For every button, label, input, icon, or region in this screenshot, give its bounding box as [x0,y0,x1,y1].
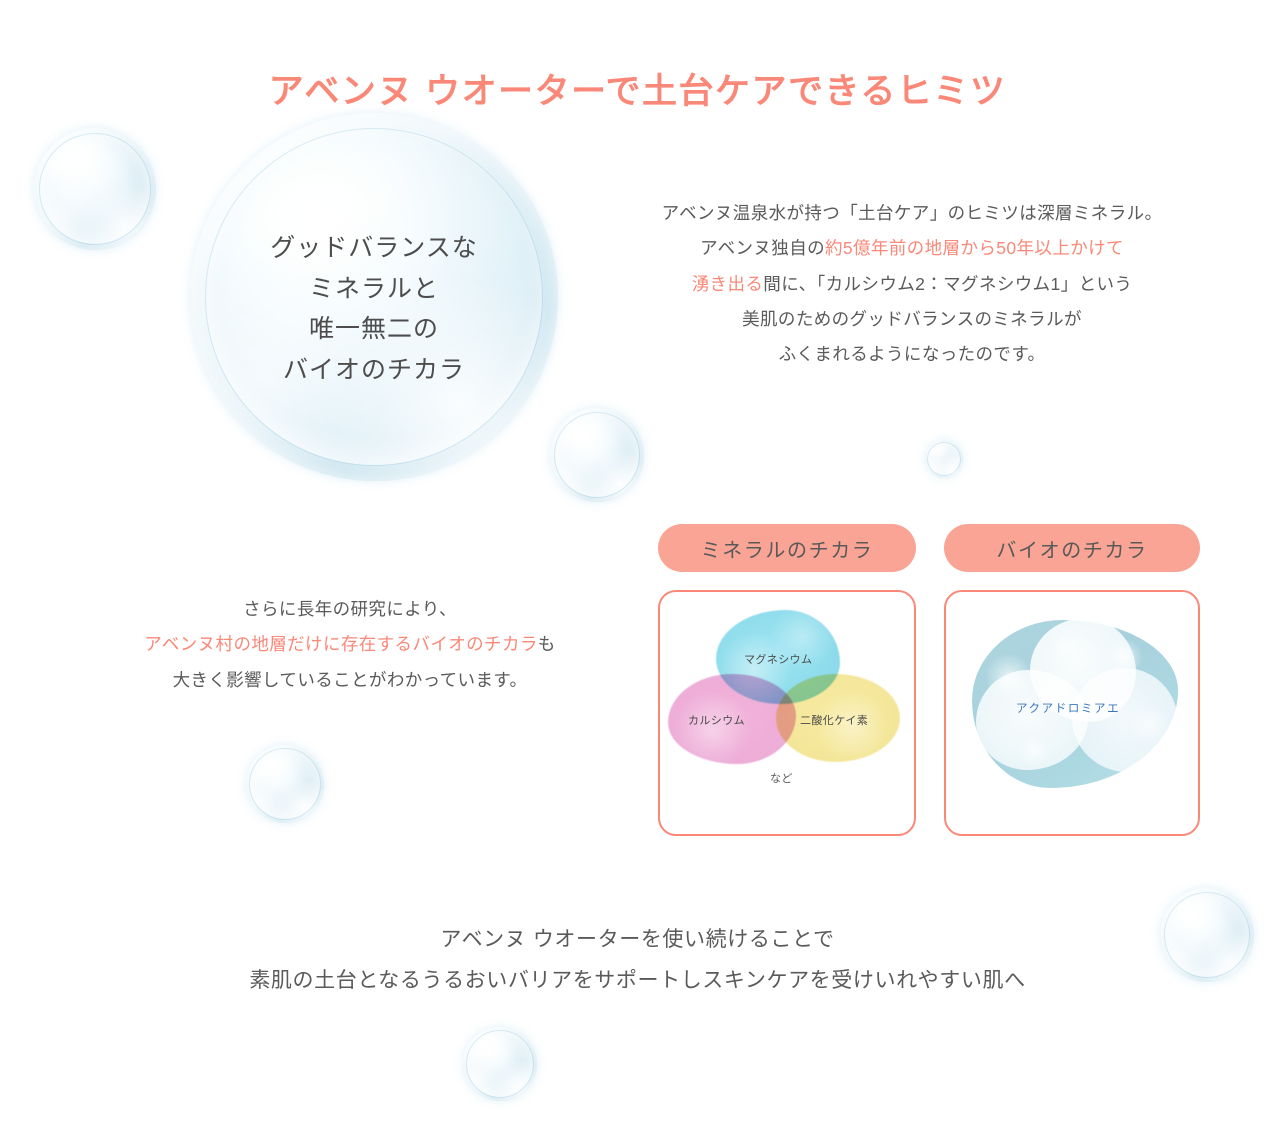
intro-line-2-plain: アベンヌ独自の [700,238,825,258]
page-root: アベンヌ ウオーターで土台ケアできるヒミツ グッドバランスな ミネラルと 唯一無… [0,0,1275,1124]
water-bubble-icon-bottom [463,1027,537,1101]
outro-paragraph: アベンヌ ウオーターを使い続けることで 素肌の土台となるうるおいバリアをサポート… [0,920,1275,1002]
water-bubble-icon-small [925,440,963,478]
mineral-label-silica: 二酸化ケイ素 [800,712,868,728]
mineral-footnote: など [770,770,793,786]
bio-blob-overlay-right [1072,668,1178,772]
intro-line-3: 湧き出る間に、「カルシウム2：マグネシウム1」という [612,267,1212,302]
card-bio-heading: バイオのチカラ [944,524,1200,572]
water-bubble-icon-left [246,745,324,823]
intro-line-2: アベンヌ独自の約5億年前の地層から50年以上かけて [612,231,1212,266]
page-title: アベンヌ ウオーターで土台ケアできるヒミツ [0,63,1275,114]
card-mineral-heading: ミネラルのチカラ [658,524,916,572]
intro-line-4: 美肌のためのグッドバランスのミネラルが [612,302,1212,337]
card-bio-body: アクアドロミアエ [944,590,1200,836]
research-paragraph: さらに長年の研究により、 アベンヌ村の地層だけに存在するバイオのチカラも 大きく… [70,592,630,698]
intro-line-5: ふくまれるようになったのです。 [612,337,1212,372]
research-line-2-highlight: アベンヌ村の地層だけに存在するバイオのチカラ [144,634,537,654]
water-bubble-icon-mid [550,408,644,502]
water-bubble-icon-main [190,113,558,481]
mineral-label-magnesium: マグネシウム [744,651,812,667]
mineral-label-calcium: カルシウム [688,712,745,728]
intro-line-3-highlight: 湧き出る [692,274,764,294]
card-bio-power: バイオのチカラ アクアドロミアエ [944,524,1200,836]
research-line-1: さらに長年の研究により、 [70,592,630,627]
outro-line-2: 素肌の土台となるうるおいバリアをサポートしスキンケアを受けいれやすい肌へ [0,961,1275,1002]
research-line-2-plain: も [538,634,556,654]
water-bubble-icon-top-left [34,128,156,250]
research-line-3: 大きく影響していることがわかっています。 [70,663,630,698]
card-mineral-body: マグネシウム カルシウム 二酸化ケイ素 など [658,590,916,836]
research-line-2: アベンヌ村の地層だけに存在するバイオのチカラも [70,627,630,662]
intro-line-1: アベンヌ温泉水が持つ「土台ケア」のヒミツは深層ミネラル。 [612,196,1212,231]
intro-paragraph: アベンヌ温泉水が持つ「土台ケア」のヒミツは深層ミネラル。 アベンヌ独自の約5億年… [612,196,1212,373]
card-mineral-power: ミネラルのチカラ マグネシウム カルシウム 二酸化ケイ素 など [658,524,916,836]
outro-line-1: アベンヌ ウオーターを使い続けることで [0,920,1275,961]
intro-line-3-plain: 間に、「カルシウム2：マグネシウム1」という [763,274,1132,294]
bio-label-aqua-dolomiae: アクアドロミアエ [1016,700,1120,716]
intro-line-2-highlight: 約5億年前の地層から50年以上かけて [825,238,1124,258]
